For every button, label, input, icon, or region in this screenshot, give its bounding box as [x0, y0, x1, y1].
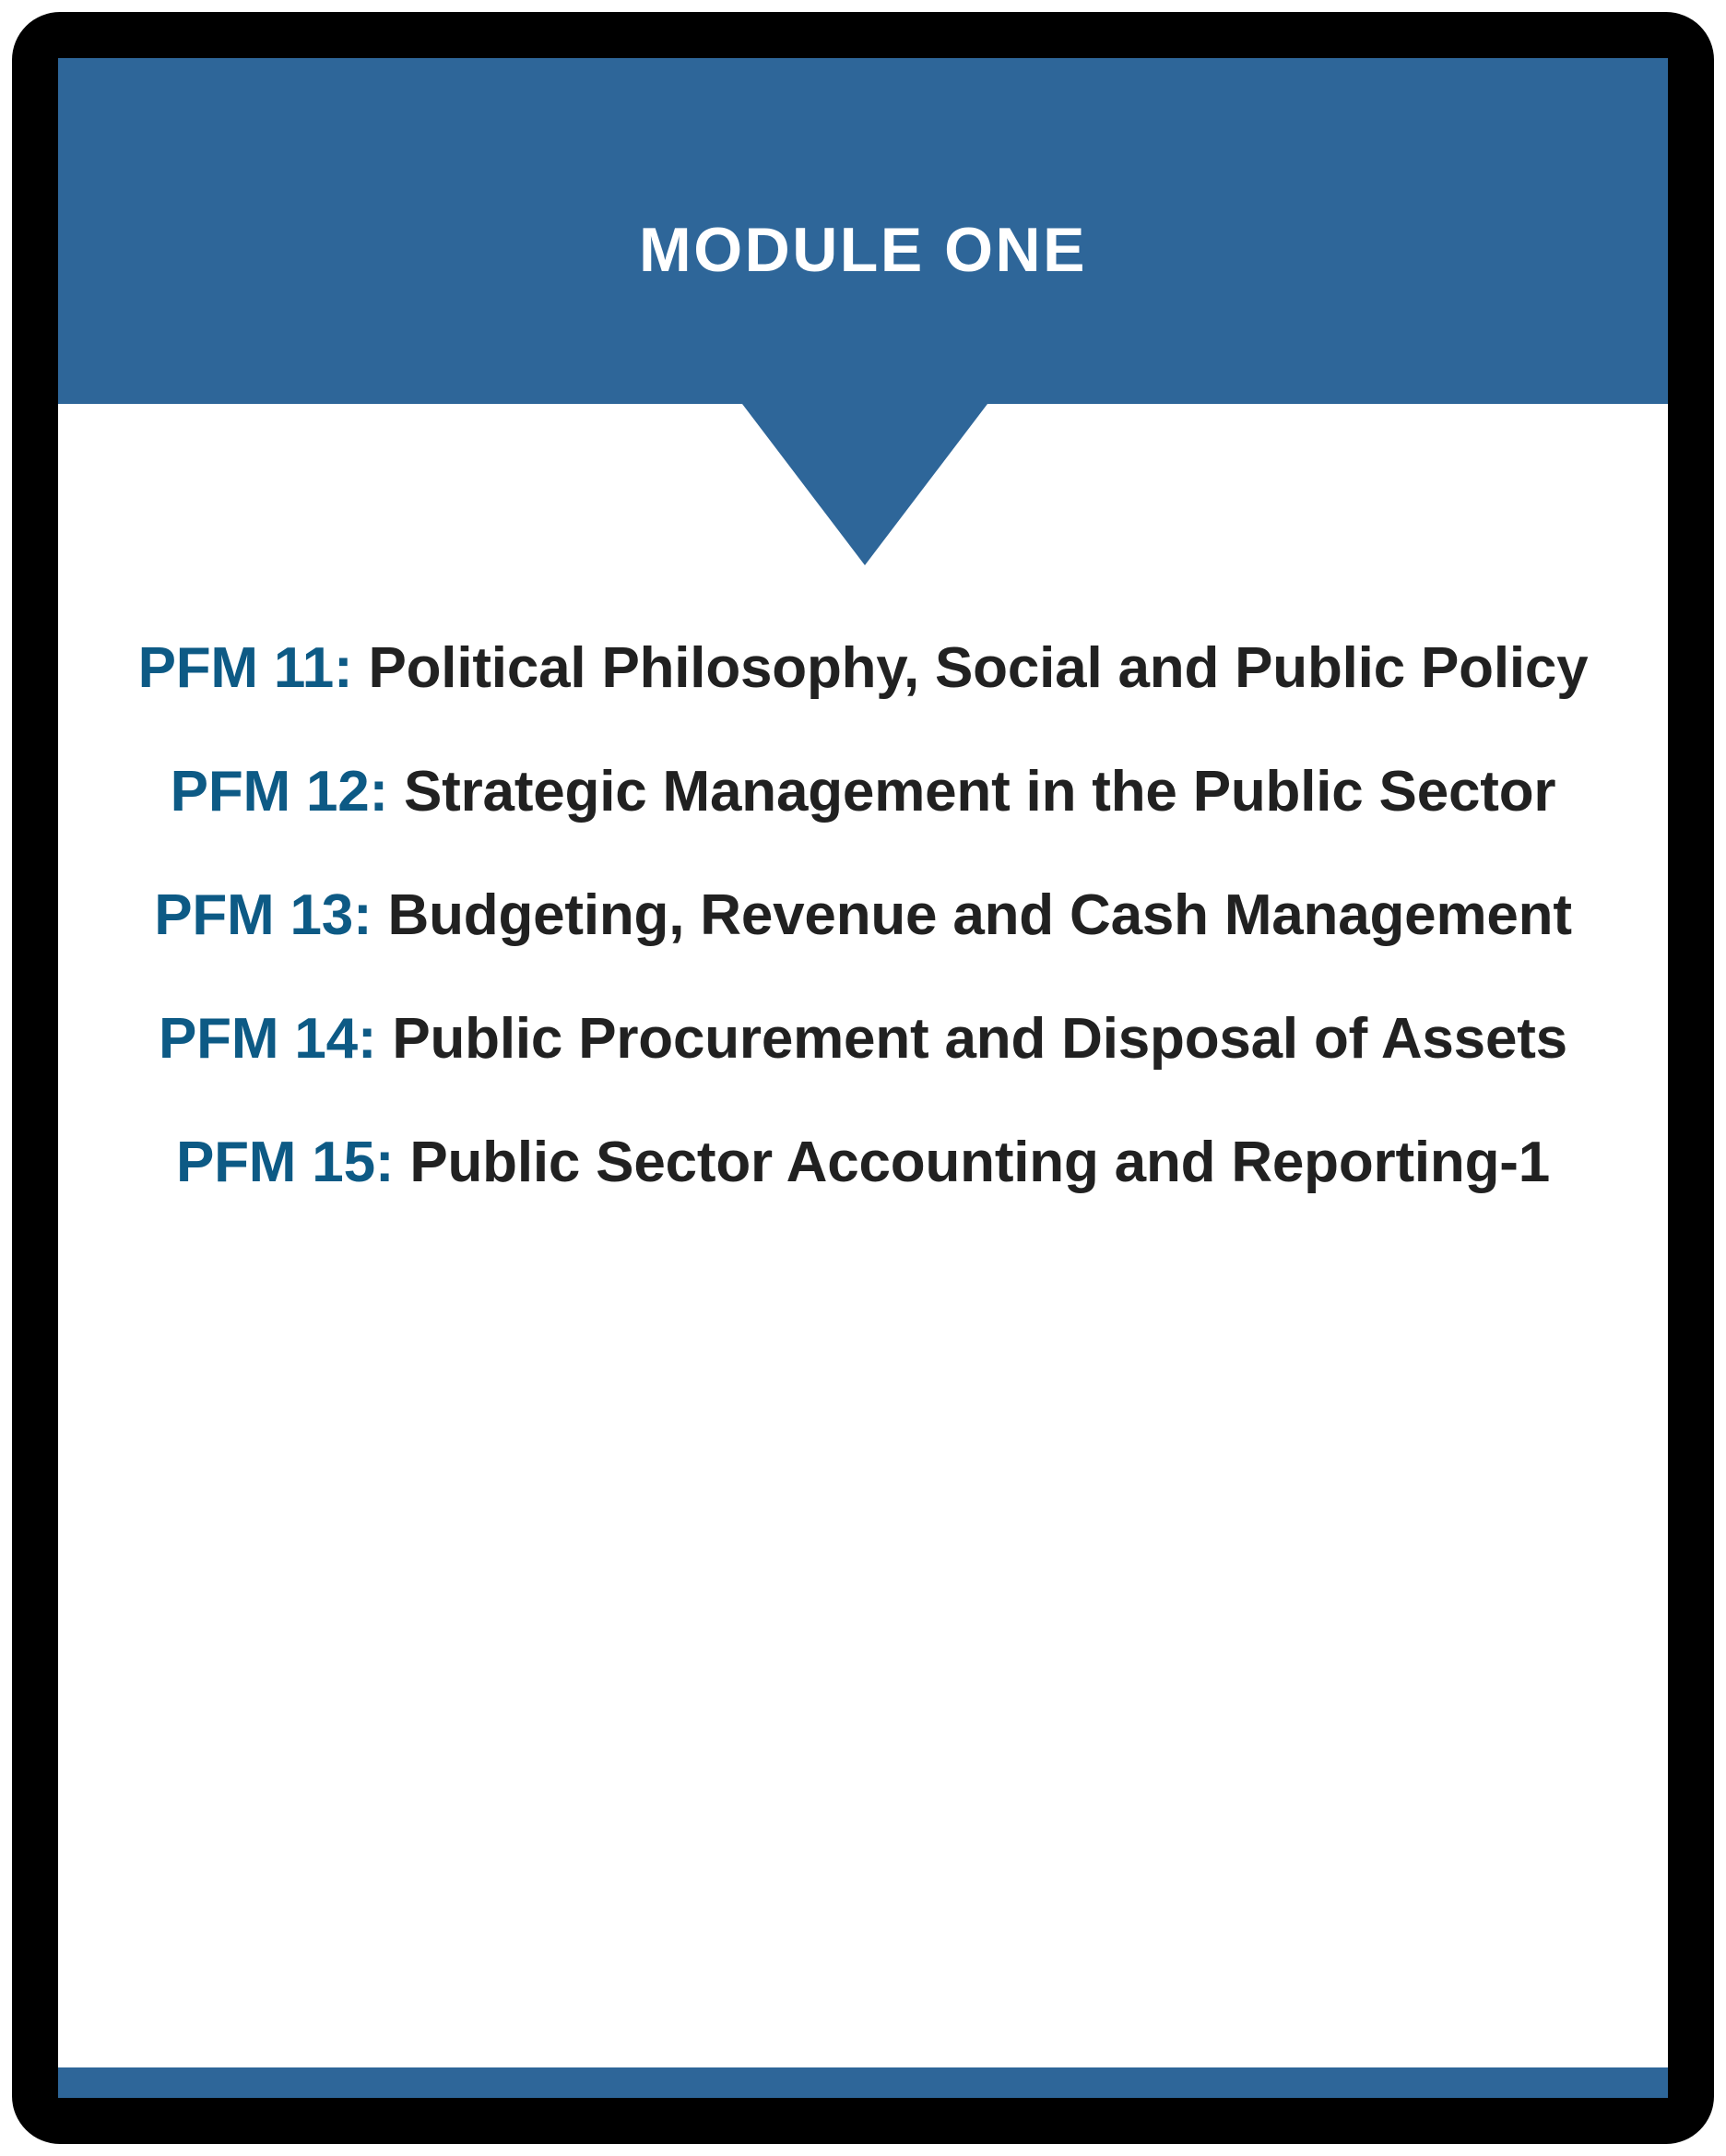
module-card-frame: MODULE ONE PFM 11: Political Philosophy,… [12, 12, 1714, 2144]
module-card: MODULE ONE PFM 11: Political Philosophy,… [58, 58, 1668, 2098]
module-code-label: PFM 12: [171, 760, 388, 823]
module-list: PFM 11: Political Philosophy, Social and… [109, 607, 1617, 1225]
module-code-label: PFM 14: [159, 1007, 376, 1071]
module-title-label: Budgeting, Revenue and Cash Management [388, 883, 1572, 947]
module-code-label: PFM 15: [176, 1131, 394, 1194]
module-title-label: Public Procurement and Disposal of Asset… [392, 1007, 1567, 1071]
page-title: MODULE ONE [58, 58, 1668, 404]
module-code-label: PFM 13: [154, 883, 372, 947]
header-pointer-triangle-icon [742, 404, 987, 565]
module-title-label: Strategic Management in the Public Secto… [404, 760, 1555, 823]
module-header-band: MODULE ONE [58, 58, 1668, 404]
module-code-label: PFM 11: [138, 636, 353, 700]
list-item: PFM 13: Budgeting, Revenue and Cash Mana… [109, 854, 1617, 977]
list-item: PFM 11: Political Philosophy, Social and… [109, 607, 1617, 730]
module-title-label: Public Sector Accounting and Reporting-1 [409, 1131, 1550, 1194]
list-item: PFM 14: Public Procurement and Disposal … [109, 977, 1617, 1101]
module-title-label: Political Philosophy, Social and Public … [368, 636, 1588, 700]
list-item: PFM 15: Public Sector Accounting and Rep… [109, 1101, 1617, 1225]
list-item: PFM 12: Strategic Management in the Publ… [109, 730, 1617, 854]
module-footer-band [58, 2067, 1668, 2098]
